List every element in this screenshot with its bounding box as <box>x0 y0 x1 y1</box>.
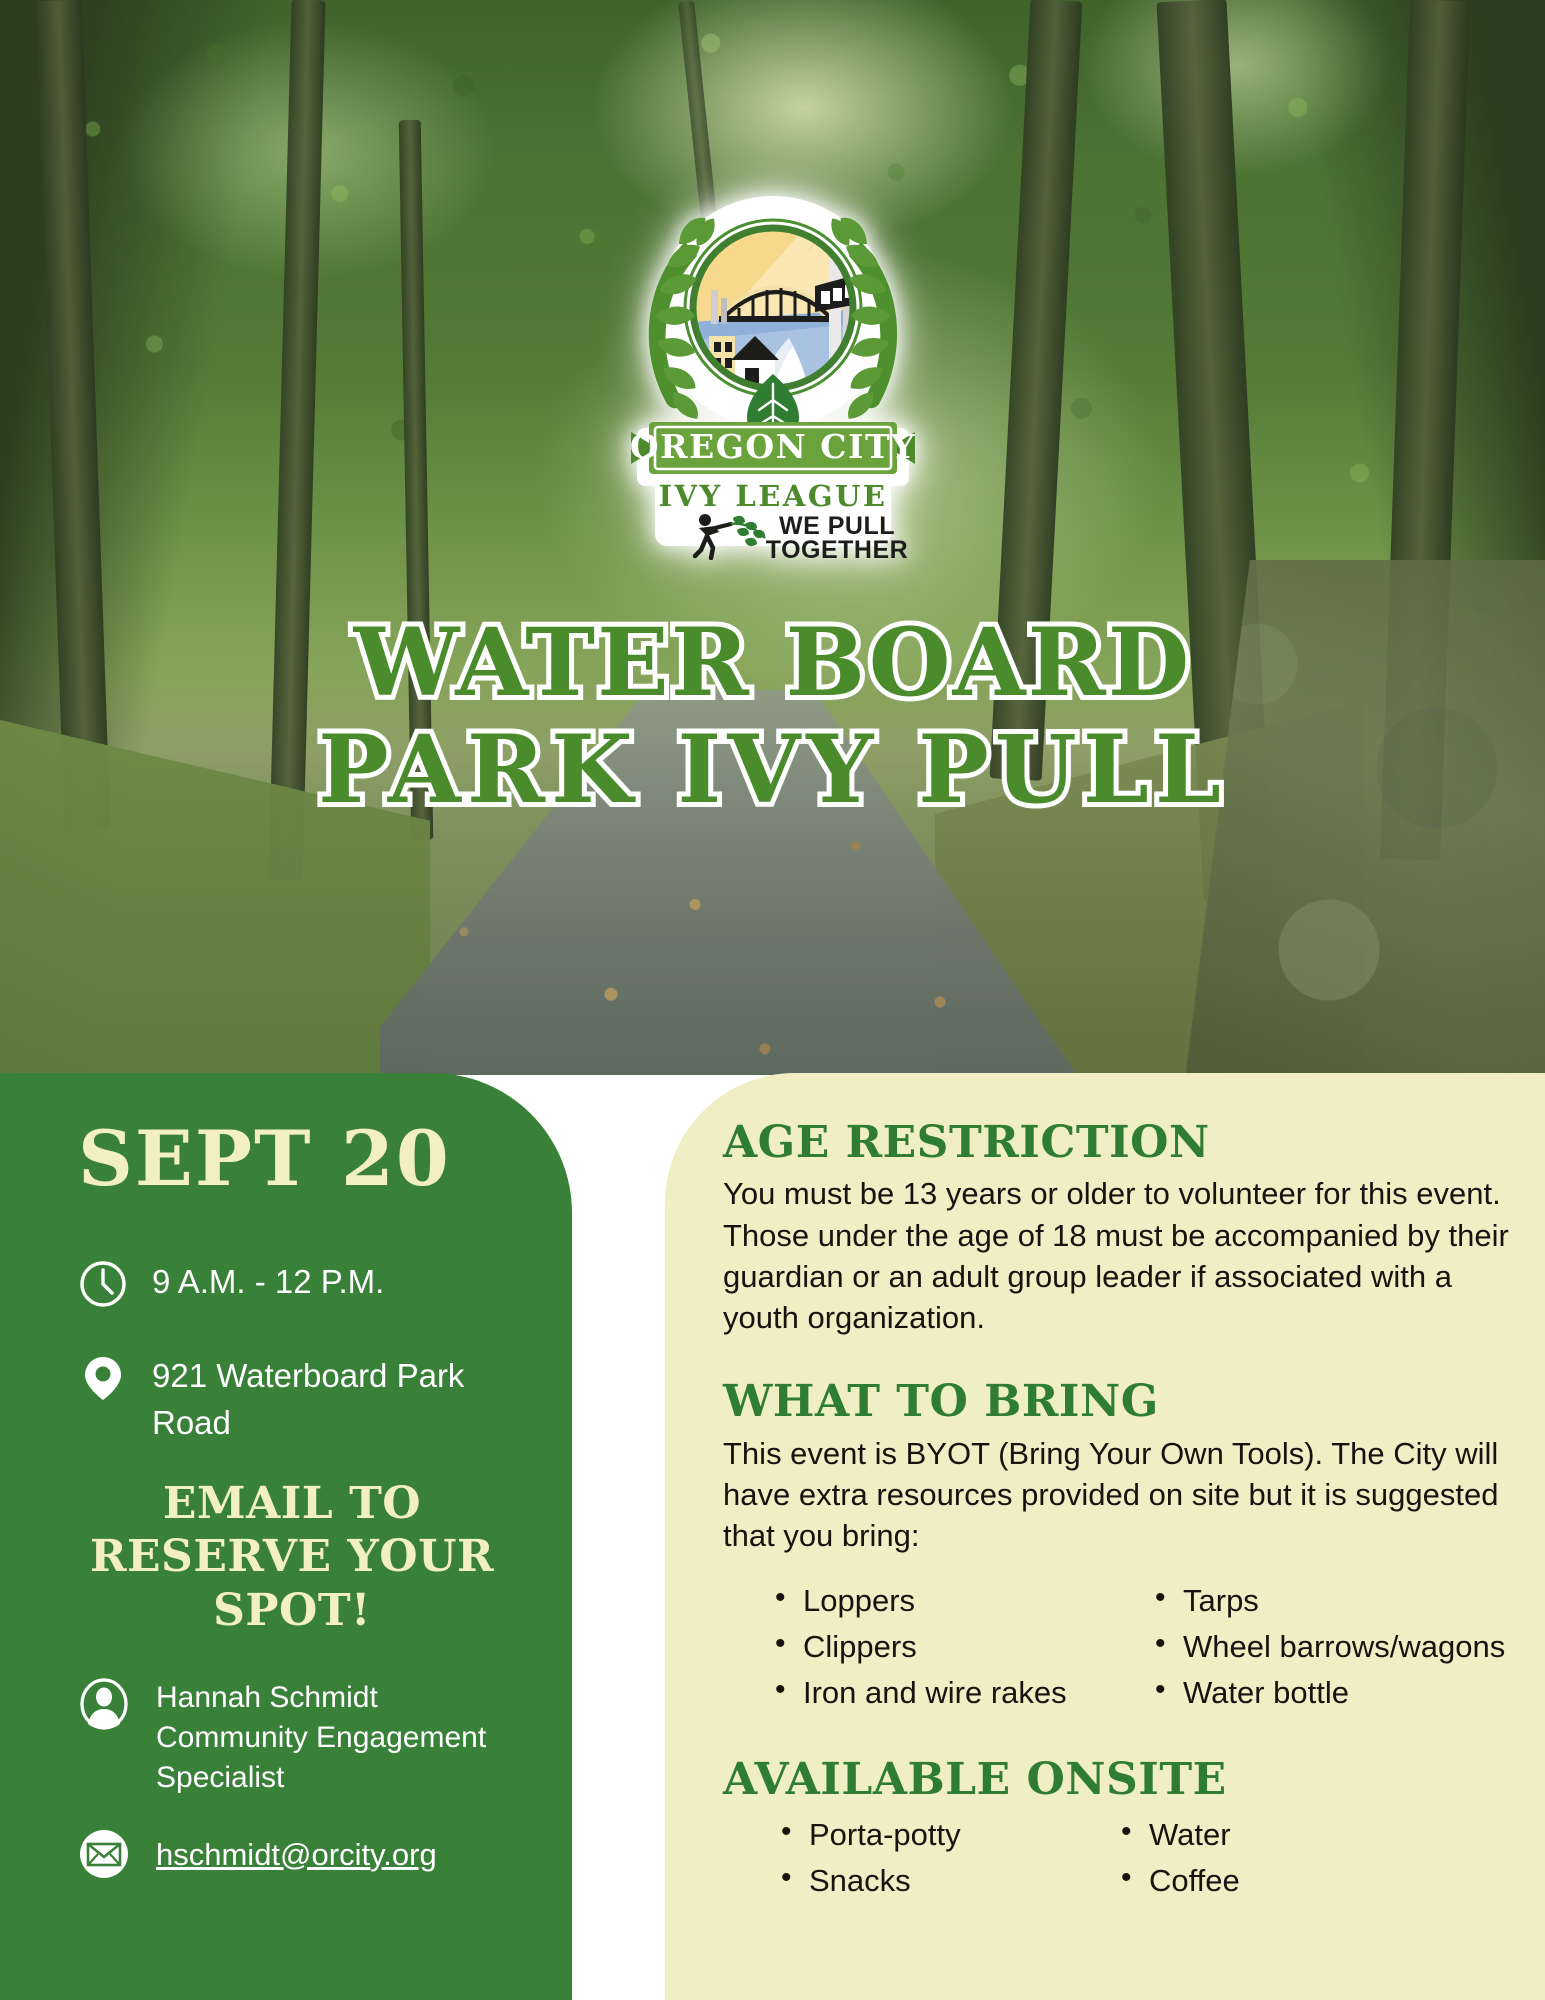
event-address: 921 Waterboard Park Road <box>152 1353 512 1447</box>
section-what-to-bring: WHAT TO BRING This event is BYOT (Bring … <box>723 1378 1511 1716</box>
section-age-restriction: AGE RESTRICTION You must be 13 years or … <box>723 1119 1511 1338</box>
reserve-cta: EMAIL TO RESERVE YOUR SPOT! <box>66 1477 518 1638</box>
section-heading: AVAILABLE ONSITE <box>723 1756 1511 1804</box>
contact-person-row: Hannah Schmidt Community Engagement Spec… <box>78 1678 518 1799</box>
list-item: Water <box>1115 1812 1511 1858</box>
person-icon <box>78 1678 130 1730</box>
list-item: Coffee <box>1115 1858 1511 1904</box>
section-body: You must be 13 years or older to volunte… <box>723 1173 1511 1338</box>
section-heading: WHAT TO BRING <box>723 1378 1511 1426</box>
event-details-panel: SEPT 20 9 A.M. - 12 P.M. 921 Waterboard … <box>0 1073 572 2000</box>
logo-svg: OREGON CITY IVY LEAGUE WE PULL TOGETHER <box>593 190 953 560</box>
title-line-1: WATER BOARD <box>0 610 1545 717</box>
contact-details: Hannah Schmidt Community Engagement Spec… <box>156 1678 486 1799</box>
bring-list-right: Tarps Wheel barrows/wagons Water bottle <box>1149 1578 1511 1716</box>
event-date: SEPT 20 <box>78 1121 518 1197</box>
contact-email[interactable]: hschmidt@orcity.org <box>156 1834 437 1876</box>
bring-list-left: Loppers Clippers Iron and wire rakes <box>769 1578 1139 1716</box>
list-item: Tarps <box>1149 1578 1511 1624</box>
onsite-list: Porta-potty Snacks Water Coffee <box>723 1812 1511 1904</box>
list-item: Clippers <box>769 1624 1139 1670</box>
info-panel: AGE RESTRICTION You must be 13 years or … <box>665 1073 1545 2000</box>
list-item: Water bottle <box>1149 1670 1511 1716</box>
contact-email-row[interactable]: hschmidt@orcity.org <box>78 1828 518 1880</box>
onsite-list-left: Porta-potty Snacks <box>775 1812 1105 1904</box>
list-item: Iron and wire rakes <box>769 1670 1139 1716</box>
contact-title-line1: Community Engagement <box>156 1721 486 1754</box>
contact-title-line2: Specialist <box>156 1761 284 1794</box>
oregon-city-ivy-league-logo: OREGON CITY IVY LEAGUE WE PULL TOGETHER <box>593 190 953 560</box>
logo-tagline-line2: TOGETHER <box>765 536 907 560</box>
flyer-title: WATER BOARD PARK IVY PULL <box>0 610 1545 824</box>
bring-list: Loppers Clippers Iron and wire rakes Tar… <box>723 1578 1511 1716</box>
event-time-row: 9 A.M. - 12 P.M. <box>78 1259 518 1309</box>
title-line-2: PARK IVY PULL <box>0 717 1545 824</box>
list-item: Snacks <box>775 1858 1105 1904</box>
section-body: This event is BYOT (Bring Your Own Tools… <box>723 1433 1511 1557</box>
list-item: Loppers <box>769 1578 1139 1624</box>
section-available-onsite: AVAILABLE ONSITE Porta-potty Snacks Wate… <box>723 1756 1511 1904</box>
list-item: Porta-potty <box>775 1812 1105 1858</box>
logo-name-line2: IVY LEAGUE <box>658 479 887 513</box>
onsite-list-right: Water Coffee <box>1115 1812 1511 1904</box>
section-heading: AGE RESTRICTION <box>723 1119 1511 1167</box>
envelope-icon <box>78 1828 130 1880</box>
list-item: Wheel barrows/wagons <box>1149 1624 1511 1670</box>
logo-name-line1: OREGON CITY <box>629 427 915 466</box>
map-pin-icon <box>78 1353 128 1403</box>
logo-ribbon: OREGON CITY <box>629 422 915 474</box>
contact-name: Hannah Schmidt <box>156 1681 378 1714</box>
event-address-row: 921 Waterboard Park Road <box>78 1353 518 1447</box>
clock-icon <box>78 1259 128 1309</box>
event-time: 9 A.M. - 12 P.M. <box>152 1259 384 1306</box>
